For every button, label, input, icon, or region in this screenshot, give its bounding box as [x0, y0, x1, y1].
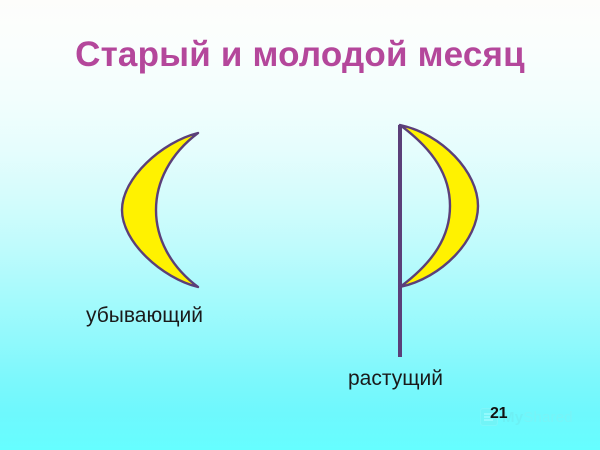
caption-waxing-moon: растущий [348, 366, 443, 392]
slide-canvas: Старый и молодой месяц убывающий растущи… [0, 0, 600, 450]
waning-crescent-moon-icon [118, 126, 202, 294]
waxing-crescent-moon-icon [396, 120, 482, 292]
watermark-brand-suffix: Shared [523, 409, 573, 426]
page-title: Старый и молодой месяц [0, 33, 600, 77]
watermark-brand: MyShared [502, 409, 573, 426]
page-number: 21 [490, 405, 507, 423]
caption-waning-moon: убывающий [86, 303, 203, 329]
